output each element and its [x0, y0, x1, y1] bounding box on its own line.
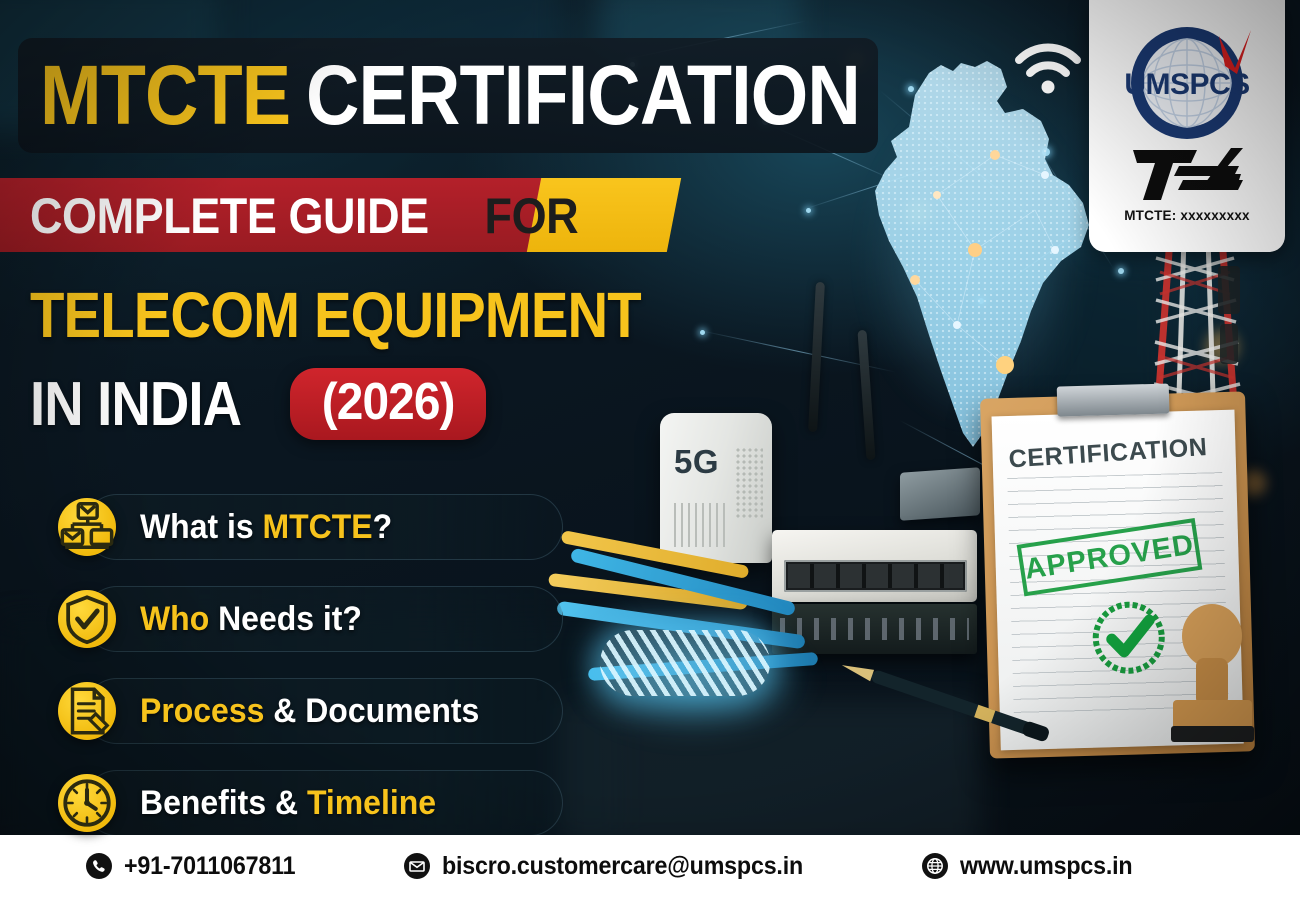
title-line-1: MTCTE CERTIFICATION — [40, 45, 860, 145]
year-badge: (2026) — [290, 368, 486, 440]
poster-canvas: 5G CERTIFICATION APPROVED — [0, 0, 1300, 897]
shield-check-icon — [58, 590, 116, 648]
label-part-post: & Documents — [264, 692, 479, 730]
mtcte-number: MTCTE: xxxxxxxxx — [1124, 208, 1250, 223]
green-check-icon — [1089, 598, 1169, 678]
list-item[interactable]: What is MTCTE? — [58, 488, 563, 566]
website-url: www.umspcs.in — [960, 852, 1132, 881]
label-part-pre: What is — [140, 508, 263, 546]
title-certification: CERTIFICATION — [306, 55, 860, 136]
label-part-post: Needs it? — [209, 600, 362, 638]
list-item[interactable]: Benefits & Timeline — [58, 764, 563, 842]
router-label: 5G — [674, 443, 719, 481]
switch-ports — [784, 560, 967, 592]
contact-email[interactable]: biscro.customercare@umspcs.in — [404, 852, 830, 881]
tec-logo — [1127, 146, 1247, 204]
brand-logo-card: LEADER IN PRODUCT COMPLIANCE GLOBALLY UM… — [1089, 0, 1285, 252]
wifi-icon — [1012, 38, 1084, 96]
title-line-3: TELECOM EQUIPMENT — [30, 278, 641, 352]
title-in-india: IN INDIA — [30, 369, 241, 440]
label-part-highlight: Timeline — [307, 784, 436, 822]
list-item-label: Benefits & Timeline — [140, 784, 436, 823]
title-line-2: COMPLETE GUIDE FOR — [30, 188, 578, 244]
grey-equipment-box — [900, 467, 980, 521]
list-item[interactable]: Process & Documents — [58, 672, 563, 750]
list-item-label: Process & Documents — [140, 692, 479, 731]
umspcs-wordmark: UMSPCS — [1124, 68, 1249, 101]
label-part-highlight: Who — [140, 600, 209, 638]
label-part-post: ? — [373, 508, 393, 546]
label-part-highlight: MTCTE — [263, 508, 373, 546]
label-part-pre: Benefits & — [140, 784, 307, 822]
contact-phone[interactable]: +91-7011067811 — [86, 852, 308, 881]
globe-icon — [922, 853, 948, 879]
phone-icon — [86, 853, 112, 879]
document-edit-icon — [58, 682, 116, 740]
5g-router: 5G — [660, 413, 772, 563]
router-speaker-mesh — [735, 447, 763, 519]
feature-list: What is MTCTE? Who Needs it? — [58, 488, 563, 856]
umspcs-logo: LEADER IN PRODUCT COMPLIANCE GLOBALLY UM… — [1101, 22, 1273, 144]
network-devices-icon — [58, 498, 116, 556]
clipboard-title: CERTIFICATION — [1008, 433, 1208, 474]
clock-icon — [58, 774, 116, 832]
email-icon — [404, 853, 430, 879]
year-label: (2026) — [322, 372, 455, 432]
clipboard-clip — [1056, 384, 1169, 417]
title-complete-guide: COMPLETE GUIDE — [30, 187, 429, 245]
list-item-label: Who Needs it? — [140, 600, 362, 639]
fiber-bundle-tips — [600, 630, 770, 696]
contact-footer: +91-7011067811 biscro.customercare@umspc… — [0, 835, 1300, 897]
phone-number: +91-7011067811 — [124, 852, 295, 881]
network-switch — [772, 530, 977, 602]
wooden-stamp — [1165, 600, 1260, 750]
email-address: biscro.customercare@umspcs.in — [442, 852, 803, 881]
list-item-label: What is MTCTE? — [140, 508, 392, 547]
list-item[interactable]: Who Needs it? — [58, 580, 563, 658]
router-vents — [674, 503, 730, 547]
contact-website[interactable]: www.umspcs.in — [922, 852, 1145, 881]
title-for: FOR — [485, 187, 579, 245]
title-mtcte: MTCTE — [40, 55, 290, 136]
title-line-4-row: IN INDIA (2026) — [30, 368, 486, 440]
label-part-highlight: Process — [140, 692, 264, 730]
